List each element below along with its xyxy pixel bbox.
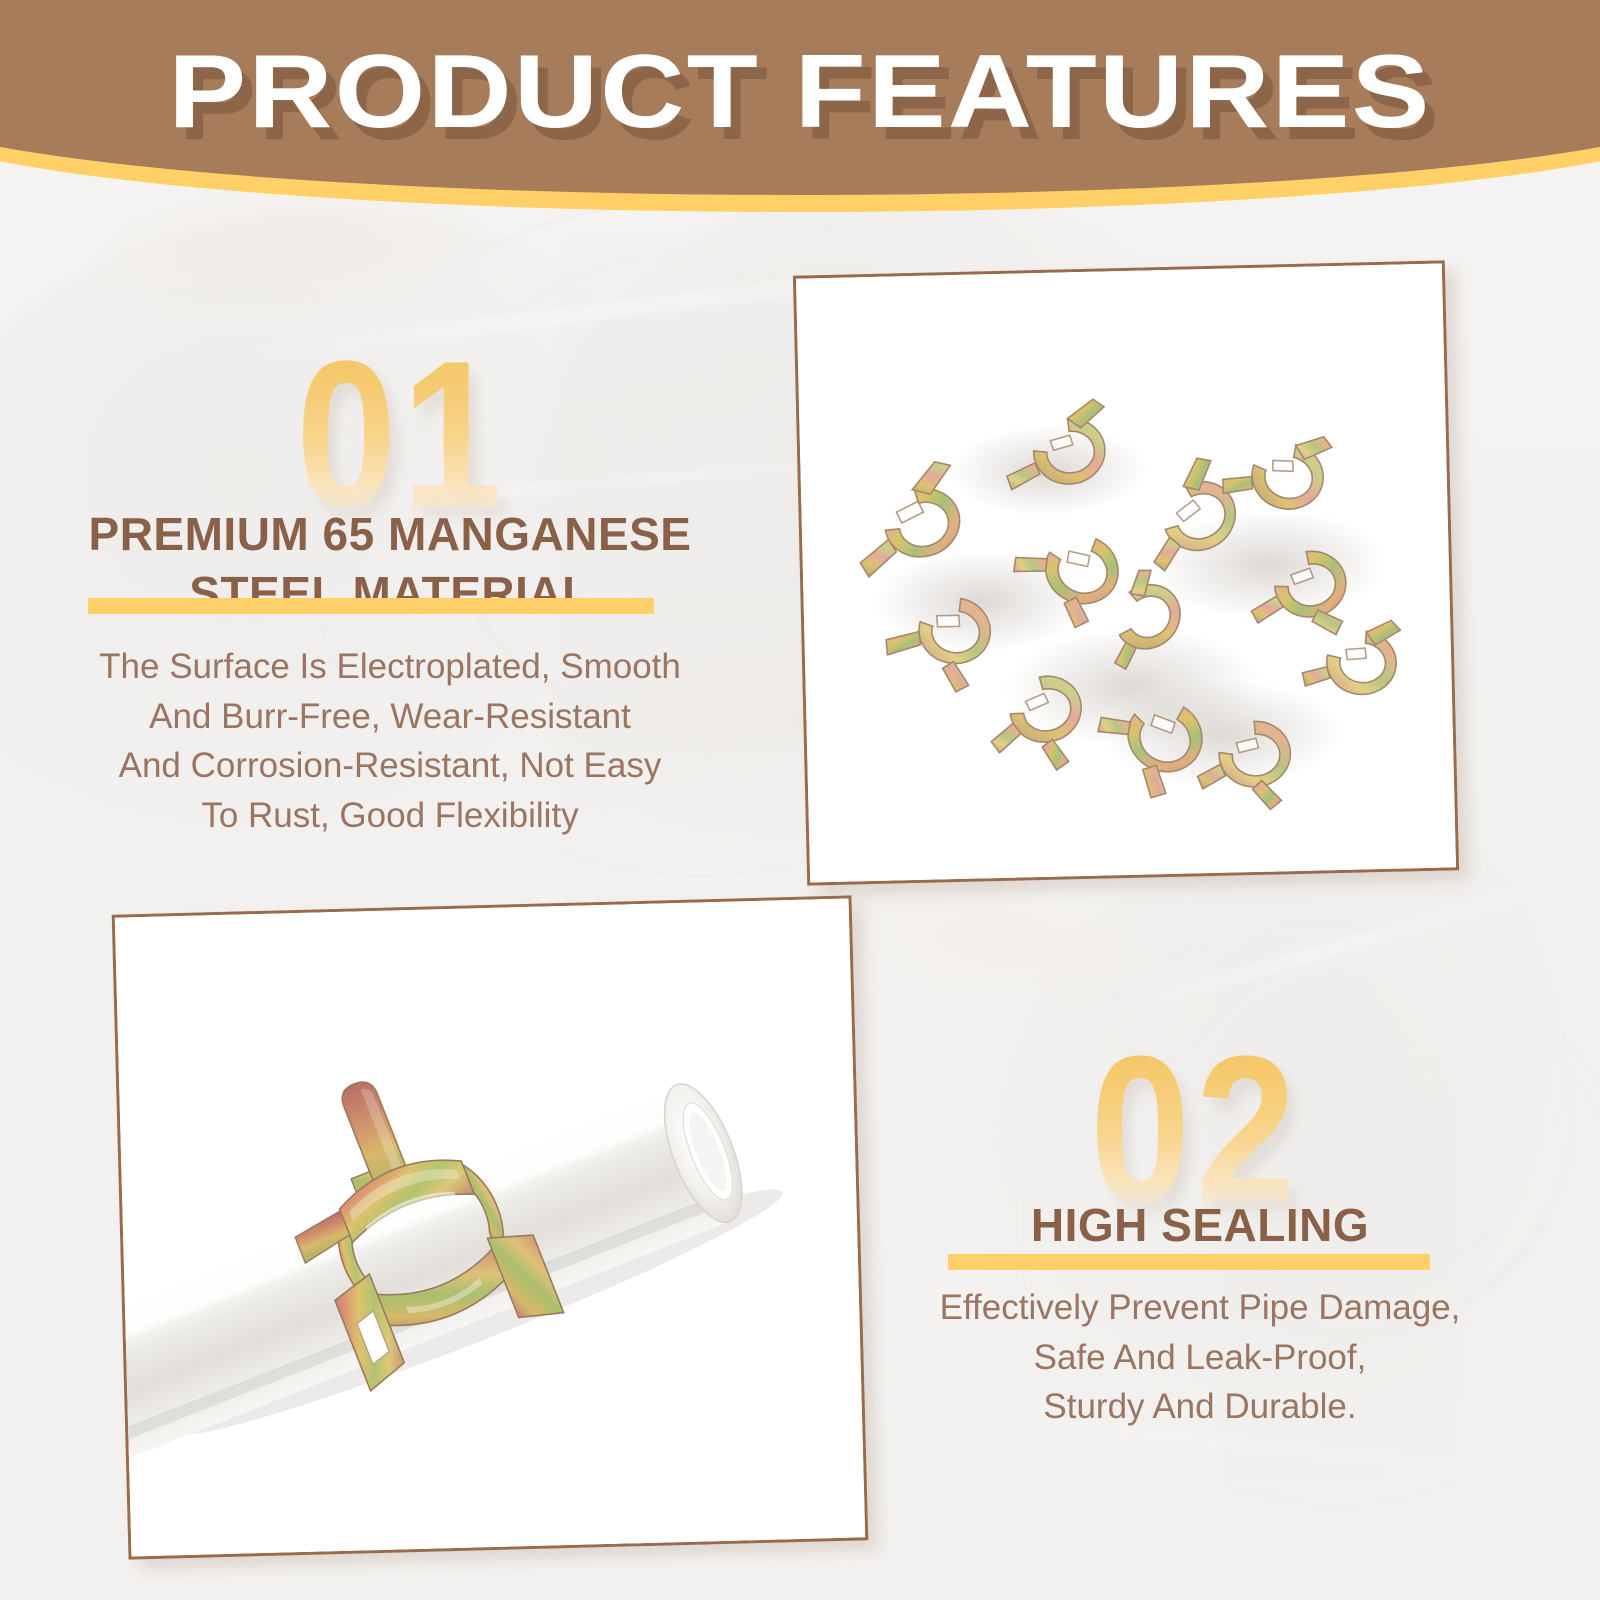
- clamp-on-tube-photo: [115, 899, 865, 1557]
- feature-heading-02: HIGH SEALING: [900, 1196, 1500, 1255]
- clamps-pile-photo: [796, 263, 1456, 882]
- feature-image-frame-02[interactable]: [112, 895, 869, 1559]
- clamps-pile-illustration: [796, 263, 1456, 882]
- feature-body-02: Effectively Prevent Pipe Damage, Safe An…: [860, 1283, 1540, 1432]
- feature-image-frame-01[interactable]: [793, 260, 1459, 885]
- feature-underline-02: [948, 1254, 1430, 1270]
- product-features-infographic: PRODUCT FEATURES 01 PREMIUM 65 MANGANESE…: [0, 0, 1600, 1600]
- feature-underline-01: [88, 598, 654, 614]
- clamp-on-tube-illustration: [115, 899, 865, 1557]
- page-title: PRODUCT FEATURES: [0, 40, 1600, 144]
- header-banner: PRODUCT FEATURES: [0, 0, 1600, 260]
- feature-body-01: The Surface Is Electroplated, Smooth And…: [40, 642, 740, 841]
